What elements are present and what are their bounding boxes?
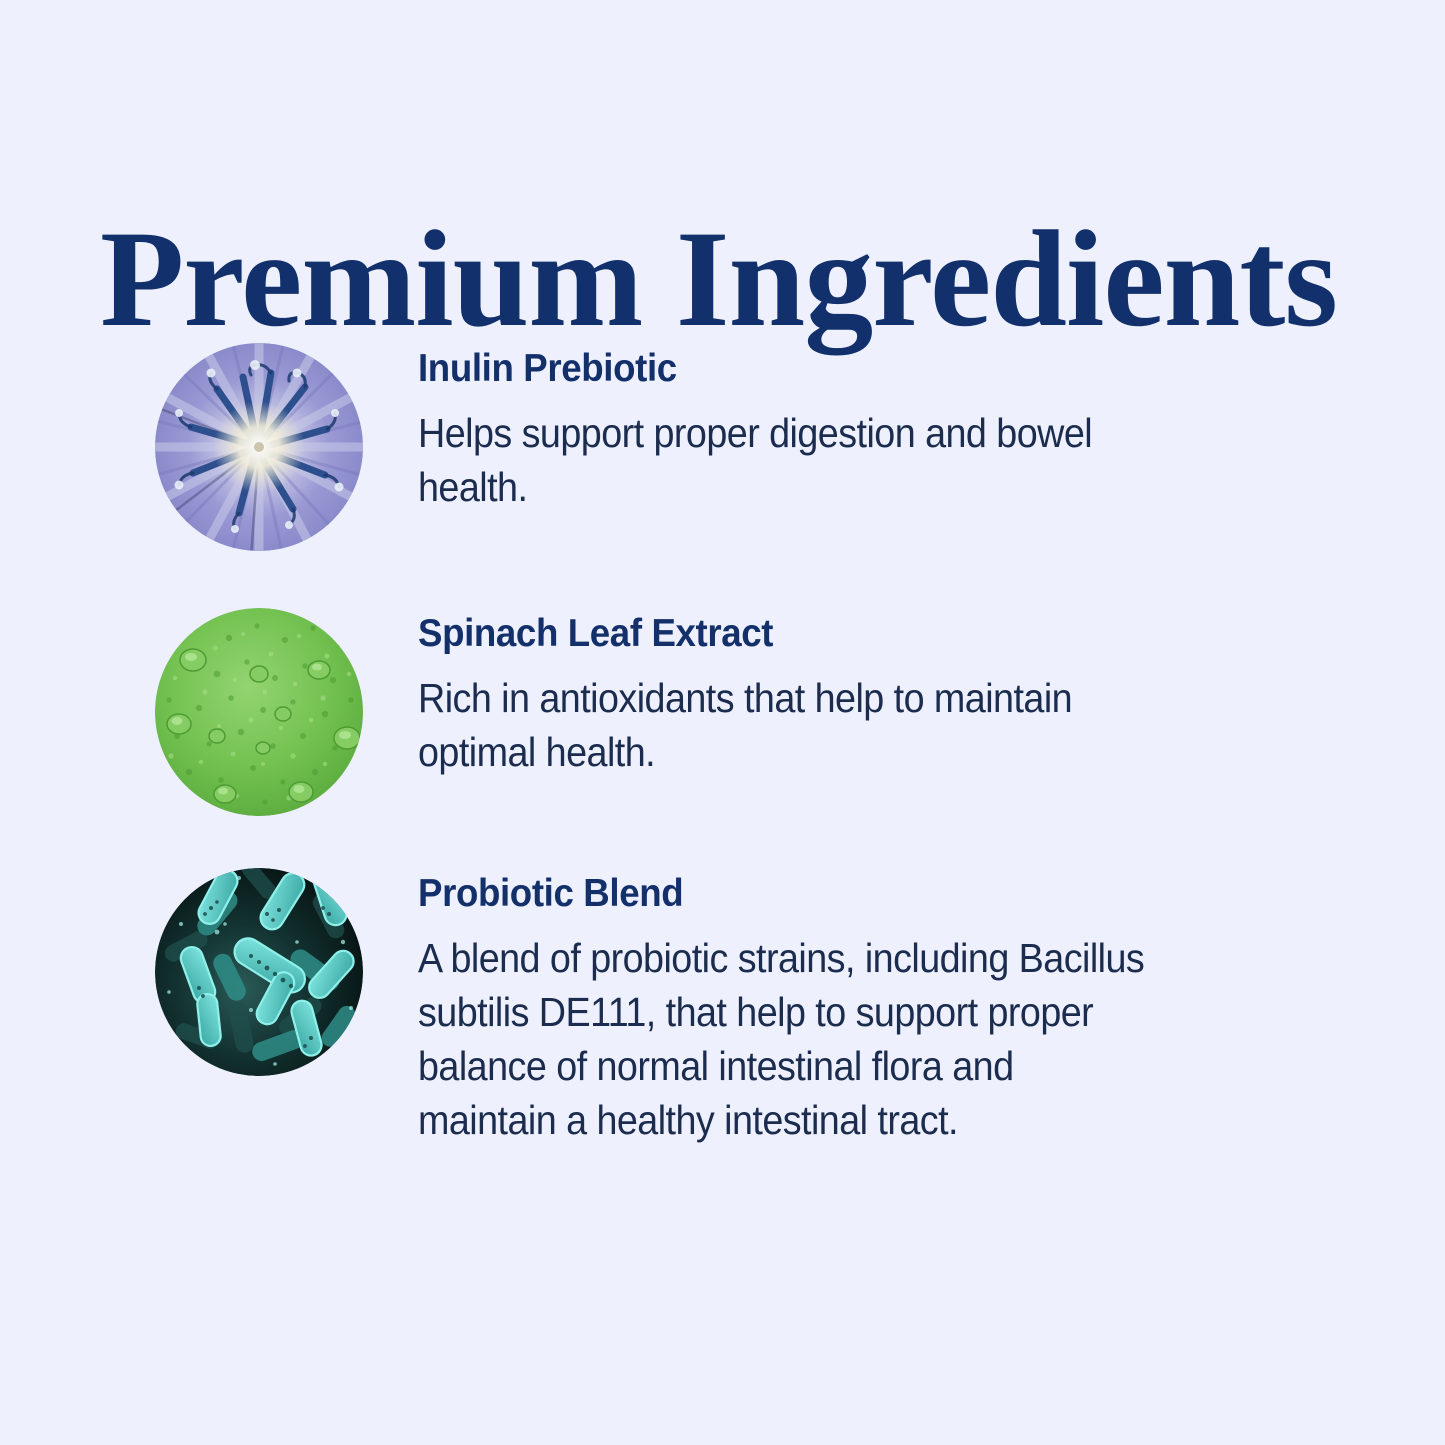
page-title: Premium Ingredients (100, 210, 1350, 348)
ingredient-description: Helps support proper digestion and bowel… (418, 406, 1145, 514)
ingredient-name: Probiotic Blend (418, 874, 1161, 915)
ingredient-name: Inulin Prebiotic (418, 349, 1161, 390)
ingredient-description: Rich in antioxidants that help to mainta… (418, 671, 1145, 779)
ingredient-item-probiotic: Probiotic Blend A blend of probiotic str… (0, 868, 1445, 1147)
ingredient-list: Inulin Prebiotic Helps support proper di… (0, 343, 1445, 1147)
ingredient-name: Spinach Leaf Extract (418, 614, 1161, 655)
ingredient-text-probiotic: Probiotic Blend A blend of probiotic str… (363, 868, 1208, 1147)
ingredient-text-spinach: Spinach Leaf Extract Rich in antioxidant… (363, 608, 1208, 779)
ingredient-item-inulin: Inulin Prebiotic Helps support proper di… (0, 343, 1445, 551)
probiotic-bacteria-photo (155, 868, 363, 1076)
premium-ingredients-poster: Premium Ingredients (0, 0, 1445, 1445)
ingredient-text-inulin: Inulin Prebiotic Helps support proper di… (363, 343, 1208, 514)
chicory-flower-photo (155, 343, 363, 551)
ingredient-item-spinach: Spinach Leaf Extract Rich in antioxidant… (0, 608, 1445, 816)
spinach-powder-photo (155, 608, 363, 816)
ingredient-description: A blend of probiotic strains, including … (418, 931, 1145, 1147)
